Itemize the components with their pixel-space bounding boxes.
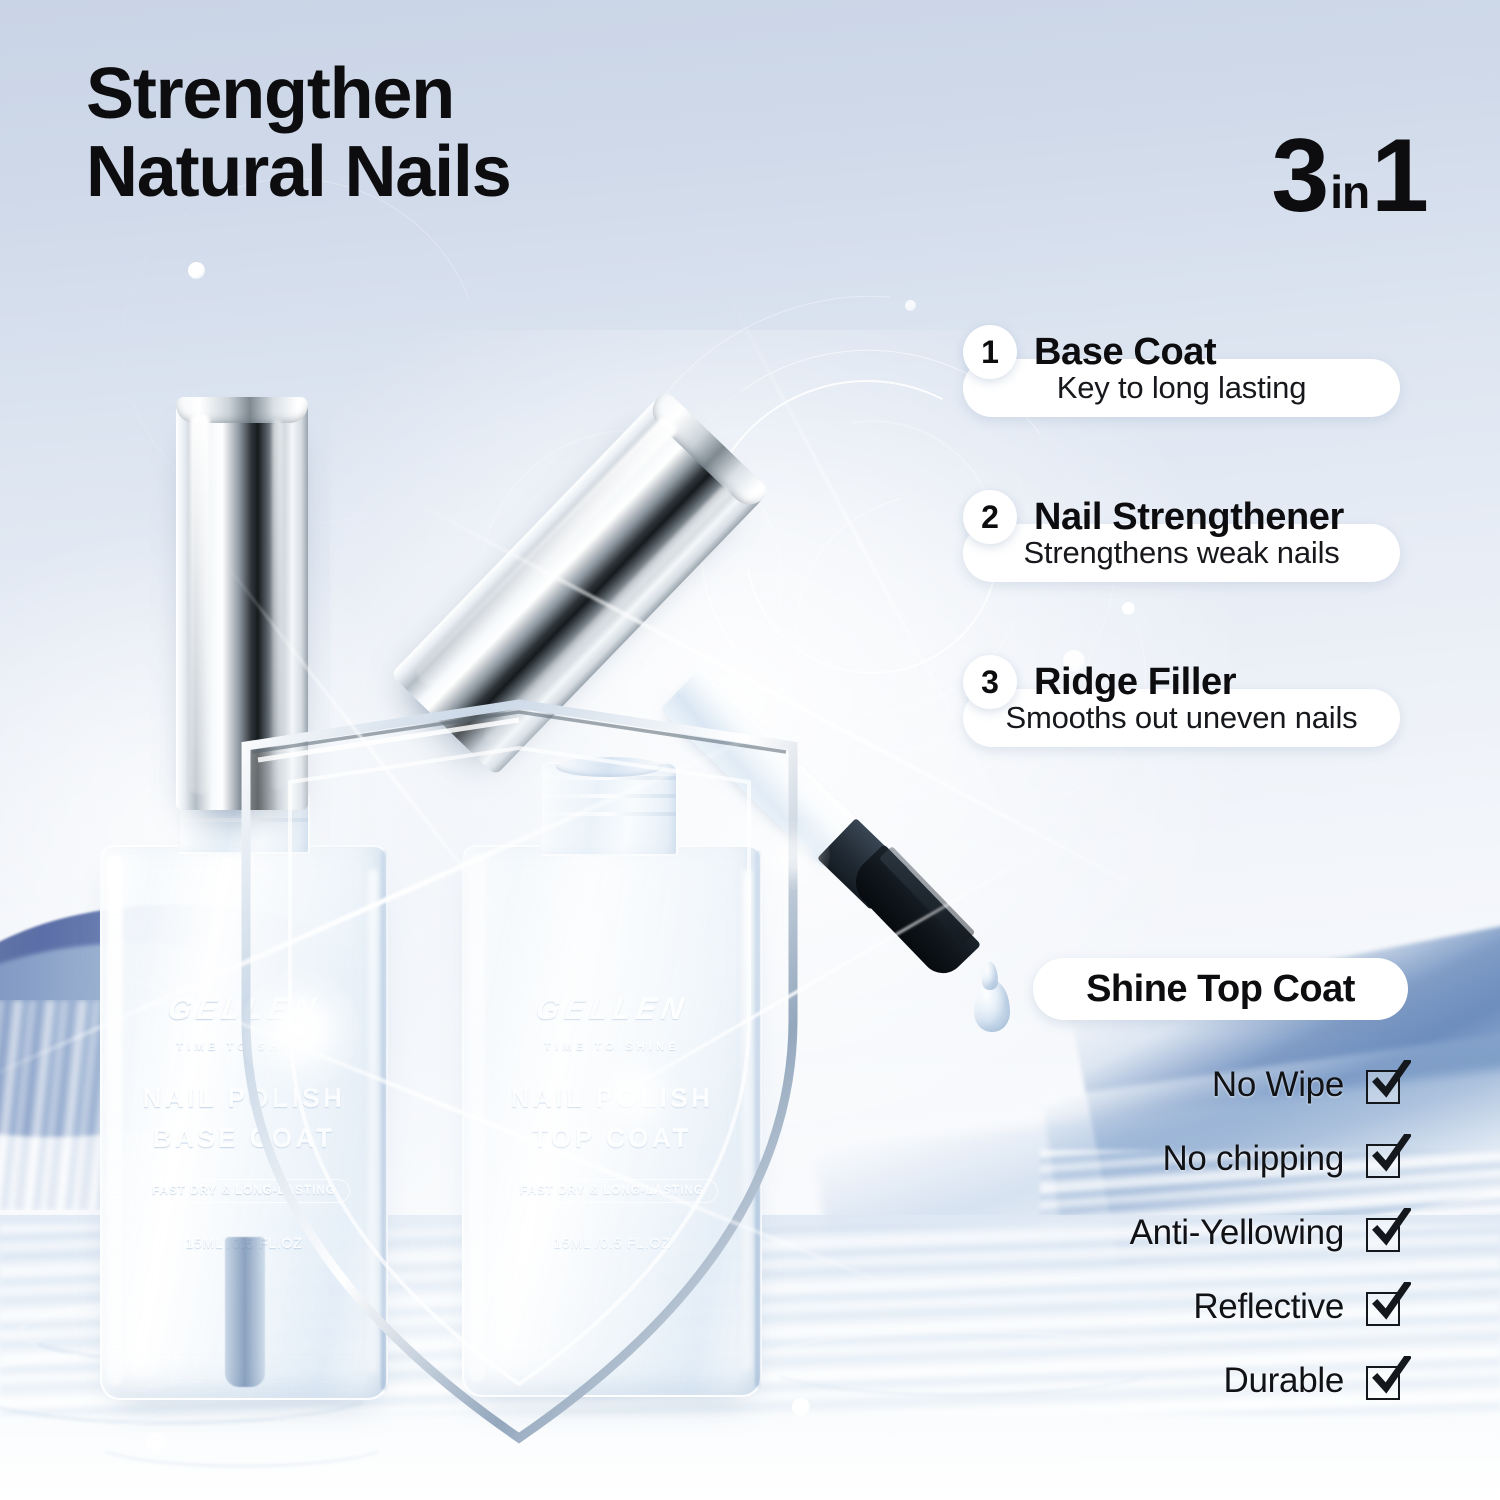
checklist-label-2: No chipping: [1162, 1139, 1344, 1179]
page-title: Strengthen Natural Nails: [86, 56, 846, 212]
checklist-label-1: No Wipe: [1212, 1065, 1344, 1105]
check-icon: [1366, 1142, 1400, 1176]
checklist-label-5: Durable: [1224, 1361, 1344, 1401]
feature-1-title: Base Coat: [1034, 331, 1216, 374]
feature-item-1: 1 Base Coat Key to long lasting: [963, 325, 1400, 417]
checklist-item: Durable: [980, 1344, 1400, 1418]
three-in-one-badge: 3 in 1: [1271, 132, 1428, 221]
feature-2-number: 2: [963, 490, 1017, 544]
check-icon: [1366, 1216, 1400, 1250]
check-icon: [1366, 1364, 1400, 1398]
checklist-label-4: Reflective: [1193, 1287, 1344, 1327]
feature-3-number: 3: [963, 655, 1017, 709]
feature-item-2: 2 Nail Strengthener Strengthens weak nai…: [963, 490, 1400, 582]
checklist-item: Anti-Yellowing: [980, 1196, 1400, 1270]
headline-line-2: Natural Nails: [86, 134, 846, 212]
shine-top-coat-pill: Shine Top Coat: [1033, 958, 1408, 1020]
checklist-item: No Wipe: [980, 1048, 1400, 1122]
product-infographic: GELLEN TIME TO SHINE NAIL POLISH BASE CO…: [0, 0, 1500, 1500]
checklist-item: No chipping: [980, 1122, 1400, 1196]
checklist-item: Reflective: [980, 1270, 1400, 1344]
checklist-label-3: Anti-Yellowing: [1130, 1213, 1344, 1253]
benefits-checklist: No Wipe No chipping Anti-Yellowing Refle…: [980, 1048, 1400, 1418]
feature-2-title: Nail Strengthener: [1034, 496, 1344, 539]
check-icon: [1366, 1068, 1400, 1102]
badge-number-left: 3: [1271, 132, 1328, 221]
headline-line-1: Strengthen: [86, 56, 846, 134]
check-icon: [1366, 1290, 1400, 1324]
feature-3-title: Ridge Filler: [1034, 661, 1236, 704]
feature-item-3: 3 Ridge Filler Smooths out uneven nails: [963, 655, 1400, 747]
badge-number-right: 1: [1371, 132, 1428, 221]
feature-1-number: 1: [963, 325, 1017, 379]
shine-top-coat-title: Shine Top Coat: [1086, 968, 1355, 1011]
badge-middle-word: in: [1328, 169, 1371, 221]
